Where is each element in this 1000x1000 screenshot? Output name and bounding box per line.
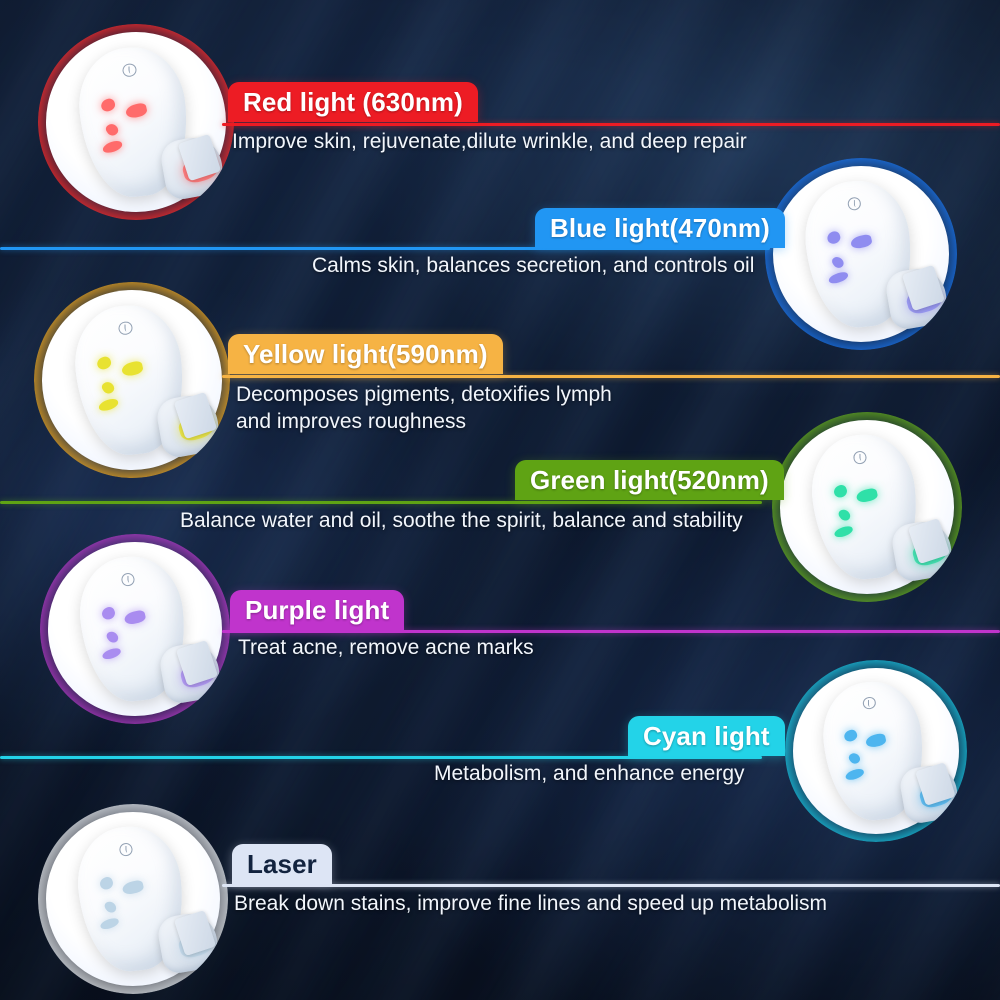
badge-label: Blue light(470nm): [550, 215, 770, 241]
light-mode-badge-red[interactable]: Red light (630nm): [228, 82, 478, 122]
divider-line-green: [0, 501, 762, 504]
light-mode-description-yellow: Decomposes pigments, detoxifies lymph an…: [236, 381, 612, 436]
divider-line-laser: [222, 884, 1000, 887]
mask-thumbnail-cyan: [785, 660, 967, 842]
mask-thumbnail-red: [38, 24, 234, 220]
mask-circle-cyan: [785, 660, 967, 842]
light-mode-badge-blue[interactable]: Blue light(470nm): [535, 208, 785, 248]
led-panel-eye-right: [123, 609, 146, 626]
led-panel-eye-right: [121, 879, 144, 896]
light-mode-description-laser: Break down stains, improve fine lines an…: [234, 890, 827, 917]
led-panel-mouth: [827, 271, 849, 286]
light-mode-description-purple: Treat acne, remove acne marks: [238, 634, 534, 661]
led-panel-eye-left: [825, 230, 842, 246]
mask-thumbnail-purple: [40, 534, 230, 724]
light-mode-description-cyan: Metabolism, and enhance energy: [434, 760, 745, 787]
brand-logo-icon: [117, 321, 134, 337]
badge-label: Yellow light(590nm): [243, 341, 488, 367]
led-panel-eye-right: [120, 360, 143, 377]
badge-label: Green light(520nm): [530, 467, 769, 493]
mask-circle-blue: [765, 158, 957, 350]
led-panel-mouth: [102, 646, 123, 661]
brand-logo-icon: [846, 196, 862, 212]
led-panel-nose: [105, 122, 121, 138]
badge-label: Laser: [247, 851, 317, 877]
led-panel-mouth: [100, 916, 121, 931]
led-panel-eye-right: [855, 487, 878, 504]
mask-circle-red: [38, 24, 234, 220]
mask-circle-laser: [38, 804, 228, 994]
led-panel-nose: [105, 629, 120, 644]
led-panel-eye-left: [842, 728, 858, 743]
brand-logo-icon: [118, 841, 134, 857]
led-panel-eye-left: [100, 605, 116, 620]
divider-line-yellow: [222, 375, 1000, 378]
brand-logo-icon: [121, 63, 138, 79]
light-mode-badge-purple[interactable]: Purple light: [230, 590, 404, 630]
led-panel-mouth: [834, 524, 855, 539]
mask-circle-purple: [40, 534, 230, 724]
divider-line-purple: [222, 630, 1000, 633]
mask-thumbnail-green: [772, 412, 962, 602]
led-panel-mouth: [97, 397, 119, 413]
badge-label: Cyan light: [643, 723, 770, 749]
badge-label: Purple light: [245, 597, 389, 623]
led-panel-nose: [837, 507, 852, 522]
mask-thumbnail-yellow: [34, 282, 230, 478]
brand-logo-icon: [852, 449, 868, 465]
light-mode-description-red: Improve skin, rejuvenate,dilute wrinkle,…: [232, 128, 747, 155]
mask-thumbnail-laser: [38, 804, 228, 994]
light-mode-description-blue: Calms skin, balances secretion, and cont…: [312, 252, 754, 279]
light-mode-badge-green[interactable]: Green light(520nm): [515, 460, 784, 500]
mask-circle-yellow: [34, 282, 230, 478]
light-mode-badge-cyan[interactable]: Cyan light: [628, 716, 785, 756]
led-panel-nose: [847, 751, 861, 766]
badge-label: Red light (630nm): [243, 89, 463, 115]
infographic-canvas: Red light (630nm)Improve skin, rejuvenat…: [0, 0, 1000, 1000]
led-panel-eye-right: [865, 732, 887, 748]
led-panel-mouth: [101, 139, 123, 155]
led-panel-eye-right: [124, 102, 147, 119]
led-panel-eye-left: [96, 355, 113, 371]
divider-line-red: [222, 123, 1000, 126]
divider-line-cyan: [0, 756, 762, 759]
led-panel-nose: [101, 380, 117, 396]
light-mode-badge-laser[interactable]: Laser: [232, 844, 332, 884]
brand-logo-icon: [120, 571, 136, 587]
light-mode-badge-yellow[interactable]: Yellow light(590nm): [228, 334, 503, 374]
led-panel-mouth: [844, 767, 865, 782]
led-panel-eye-left: [100, 97, 117, 113]
led-panel-nose: [830, 254, 845, 270]
brand-logo-icon: [862, 696, 877, 711]
led-panel-eye-left: [98, 875, 114, 890]
mask-circle-green: [772, 412, 962, 602]
light-mode-description-green: Balance water and oil, soothe the spirit…: [180, 507, 743, 534]
led-panel-nose: [103, 899, 118, 914]
led-panel-eye-left: [832, 483, 848, 498]
mask-thumbnail-blue: [765, 158, 957, 350]
led-panel-eye-right: [849, 234, 872, 251]
